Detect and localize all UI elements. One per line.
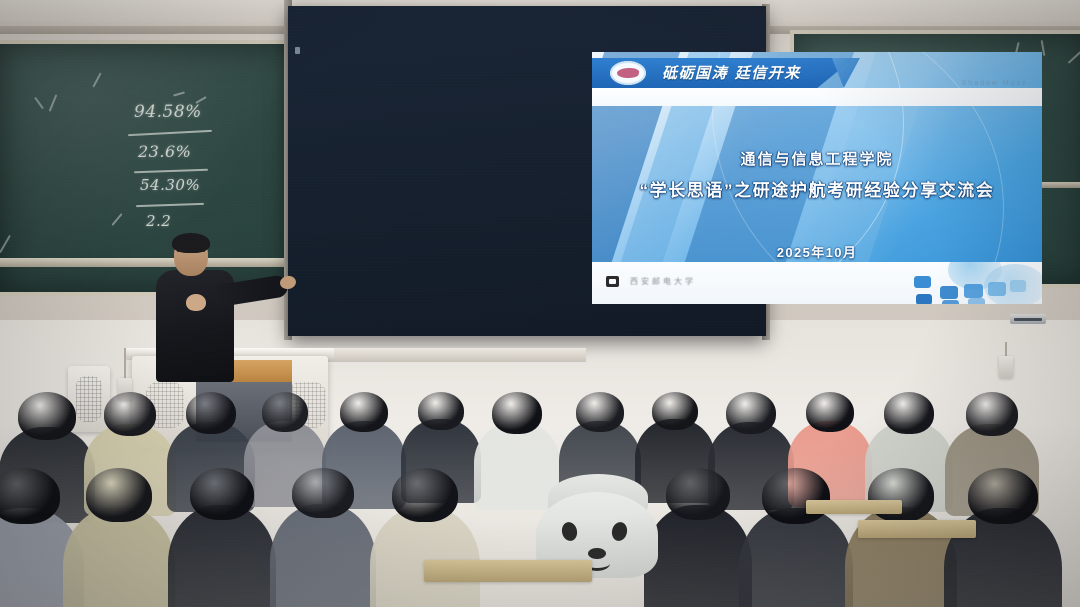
person-shoulders <box>270 504 376 607</box>
person-head <box>884 392 934 434</box>
slide-watermark: Shadow Muse <box>962 80 1028 87</box>
slide-title: 通信与信息工程学院 <box>592 148 1042 169</box>
slide-header-calligraphy: 砥砺国涛 廷信开来 <box>662 62 801 83</box>
person-head <box>966 392 1018 436</box>
slide-header-whitebar <box>592 88 1042 106</box>
person-head <box>292 468 354 518</box>
projection-screen: 砥砺国涛 廷信开来 Shadow Muse 通信与信息工程学院 “学长思语”之研… <box>288 6 766 336</box>
footer-logo-icon <box>606 276 619 287</box>
slide-footer: 西安邮电大学 <box>592 262 1042 304</box>
university-emblem-icon <box>610 61 646 85</box>
person-head <box>576 392 624 432</box>
person-head <box>18 392 76 440</box>
chalk-note-1: 94.58% <box>134 102 202 122</box>
hanging-fixture-right <box>999 356 1013 378</box>
person-head <box>186 392 236 434</box>
person-head <box>762 468 830 524</box>
chalk-mark <box>1068 50 1080 64</box>
footer-square <box>942 300 959 304</box>
person-head <box>418 392 464 430</box>
chalk-mark <box>34 97 44 110</box>
desk-mid-right <box>806 500 902 514</box>
person-head <box>104 392 156 436</box>
footer-square <box>940 286 958 299</box>
chalk-underline-3 <box>136 203 204 207</box>
footer-square <box>964 284 983 298</box>
slide-subtitle: “学长思语”之研途护航考研经验分享交流会 <box>592 176 1042 201</box>
chalk-mark <box>92 72 101 87</box>
presenter-speaker <box>150 236 280 382</box>
chalk-mark <box>49 94 58 111</box>
chalk-underline-1 <box>128 130 212 136</box>
panda-eye-left <box>560 521 579 543</box>
person-shoulders <box>168 505 276 607</box>
chalk-note-3: 54.30% <box>140 176 200 194</box>
slide-date: 2025年10月 <box>592 242 1042 261</box>
person-head <box>726 392 776 434</box>
person-head <box>968 468 1038 524</box>
presentation-slide: 砥砺国涛 廷信开来 Shadow Muse 通信与信息工程学院 “学长思语”之研… <box>592 52 1042 304</box>
desk-front-center <box>424 560 592 582</box>
person-head <box>86 468 152 522</box>
person-head <box>492 392 542 434</box>
person-shoulders <box>644 505 752 607</box>
person-head <box>0 468 60 524</box>
presenter-glasses-icon <box>177 250 205 258</box>
footer-square <box>968 298 985 304</box>
panda-eye-right <box>610 521 629 543</box>
lecture-hall-photo: 94.58% 23.6% 54.30% 2.2 <box>0 0 1080 607</box>
chalk-mark <box>173 91 185 96</box>
footer-square <box>914 276 931 288</box>
chalk-mark <box>111 213 122 226</box>
desk-front-right <box>858 520 976 538</box>
chalk-note-4: 2.2 <box>146 212 171 230</box>
person-head <box>666 468 730 520</box>
presenter-hand-chest <box>186 294 206 311</box>
footer-square <box>1010 280 1026 292</box>
chalk-underline-2 <box>134 169 208 174</box>
footer-square <box>988 282 1006 296</box>
footer-square <box>916 294 932 304</box>
screen-side-marker <box>295 47 300 54</box>
person-head <box>652 392 698 430</box>
person-head <box>262 392 308 432</box>
footer-university-name: 西安邮电大学 <box>630 276 696 287</box>
person-head <box>806 392 854 432</box>
chalk-mark <box>0 235 11 253</box>
person-head <box>392 468 458 522</box>
person-head <box>340 392 388 432</box>
hanging-cord-left <box>124 348 126 380</box>
screen-control-plate <box>1010 314 1046 324</box>
chalk-note-2: 23.6% <box>138 142 191 161</box>
person-head <box>190 468 254 520</box>
